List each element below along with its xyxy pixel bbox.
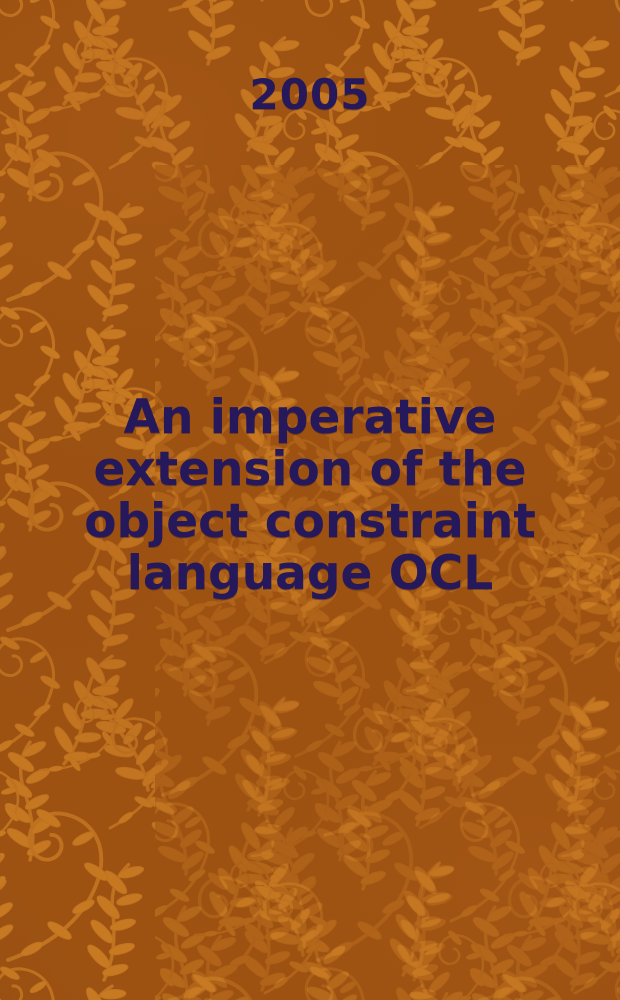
- title-line-1: An imperative: [40, 392, 580, 444]
- publication-year: 2005: [0, 70, 620, 119]
- title-line-4: language OCL: [40, 548, 580, 600]
- book-cover: 2005 An imperative extension of the obje…: [0, 0, 620, 1000]
- book-title: An imperative extension of the object co…: [40, 392, 580, 600]
- title-line-3: object constraint: [40, 496, 580, 548]
- title-line-2: extension of the: [40, 444, 580, 496]
